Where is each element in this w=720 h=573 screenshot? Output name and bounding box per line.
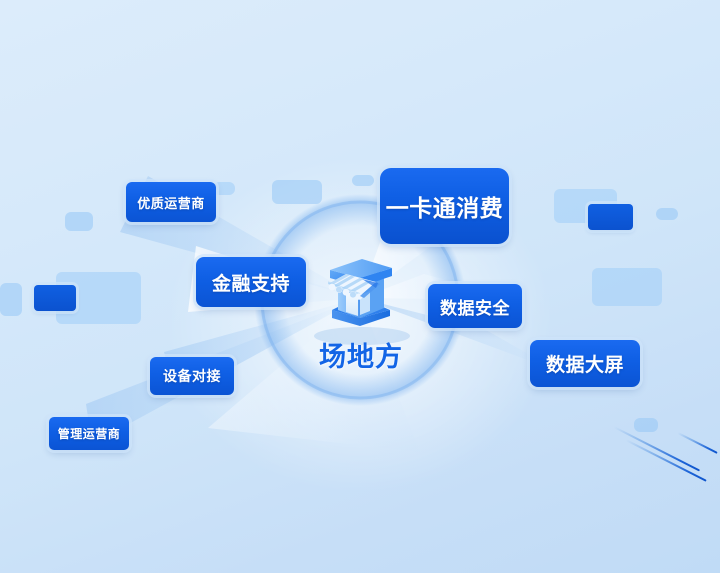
node-shebei[interactable]: 设备对接: [150, 357, 234, 395]
decor-rect-light-9: [634, 418, 658, 432]
node-yikatong[interactable]: 一卡通消费: [380, 168, 509, 244]
decor-rect-light-7: [656, 208, 678, 220]
node-guanli[interactable]: 管理运营商: [49, 417, 129, 450]
decor-rect-solid-2: [588, 204, 633, 230]
infographic-canvas: 场地方 优质运营商 金融支持 设备对接 管理运营商 一卡通消费 数据安全 数据大…: [0, 0, 720, 573]
decor-rect-light-10: [352, 175, 374, 186]
decor-rect-light-3: [213, 182, 235, 195]
speed-streak-2: [626, 439, 707, 482]
speed-streak-3: [678, 432, 718, 454]
decor-rect-light-1: [65, 212, 93, 231]
decor-rect-light-2: [272, 180, 322, 204]
node-dapping[interactable]: 数据大屏: [530, 340, 640, 387]
decor-rect-light-4: [56, 272, 141, 324]
decor-rect-light-6: [554, 189, 617, 223]
node-anquan[interactable]: 数据安全: [428, 284, 522, 328]
hub-label: 场地方: [306, 335, 416, 374]
decor-rect-solid-1: [34, 285, 76, 311]
node-jinrong[interactable]: 金融支持: [196, 257, 306, 307]
decor-rect-light-8: [592, 268, 662, 306]
speed-streak-1: [614, 426, 700, 471]
storefront-3d-icon: [318, 248, 402, 334]
decor-rect-light-5: [0, 283, 22, 316]
node-youzhi[interactable]: 优质运营商: [126, 182, 216, 222]
